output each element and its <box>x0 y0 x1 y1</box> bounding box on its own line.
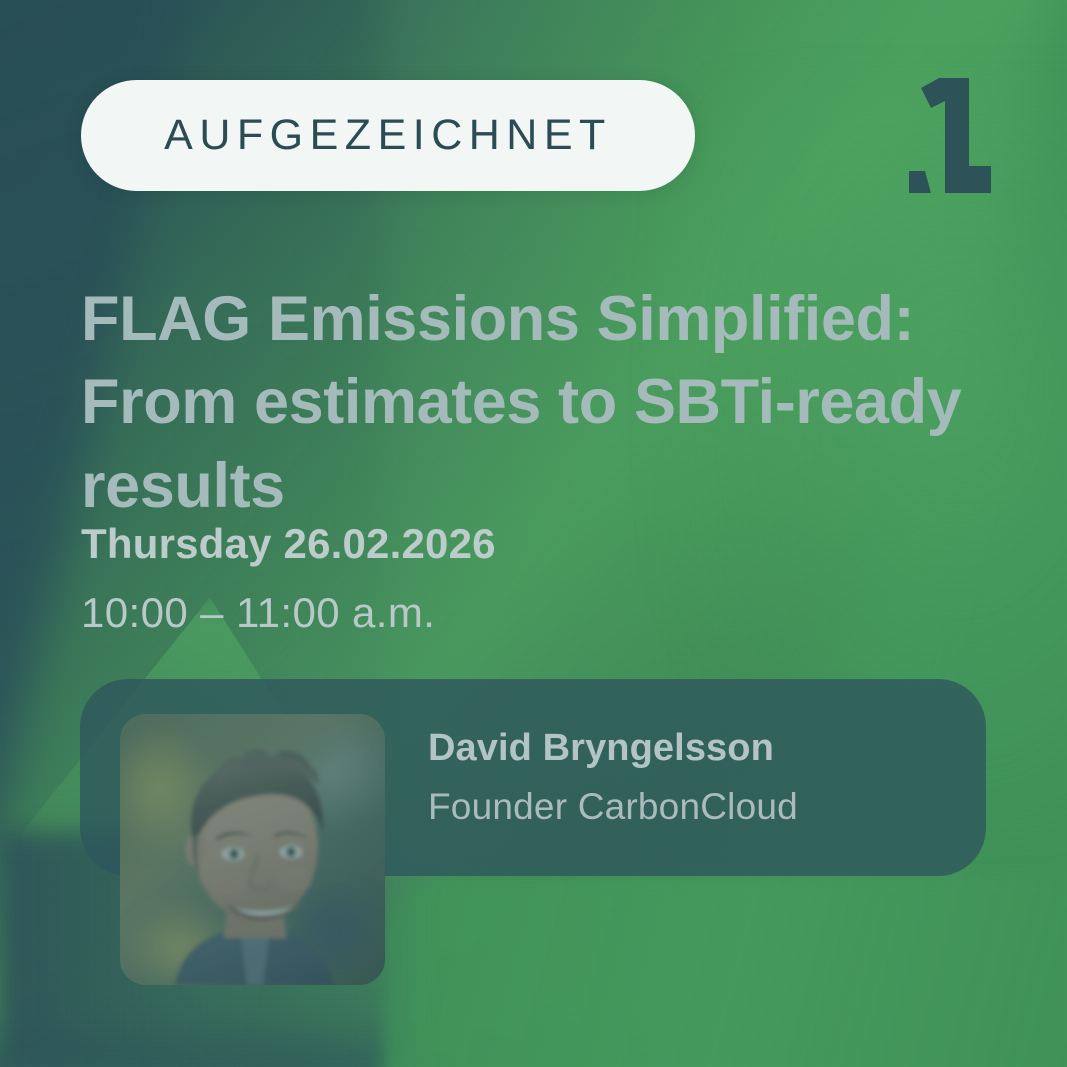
event-date: Thursday 26.02.2026 <box>81 519 496 569</box>
photo-tint-overlay <box>120 714 385 985</box>
speaker-portrait-photo <box>120 714 385 985</box>
event-time: 10:00 – 11:00 a.m. <box>81 588 435 638</box>
speaker-name: David Bryngelsson <box>428 726 774 772</box>
status-badge-label: AUFGEZEICHNET <box>164 114 612 157</box>
status-badge: AUFGEZEICHNET <box>81 80 695 191</box>
speaker-role: Founder CarbonCloud <box>428 785 798 829</box>
brand-one-mark-icon <box>909 78 991 193</box>
webinar-announcement-poster: AUFGEZEICHNET FLAG Emissions Simplified:… <box>0 0 1067 1067</box>
poster-content: AUFGEZEICHNET FLAG Emissions Simplified:… <box>0 0 1067 1067</box>
page-title: FLAG Emissions Simplified: From estimate… <box>81 278 1011 527</box>
